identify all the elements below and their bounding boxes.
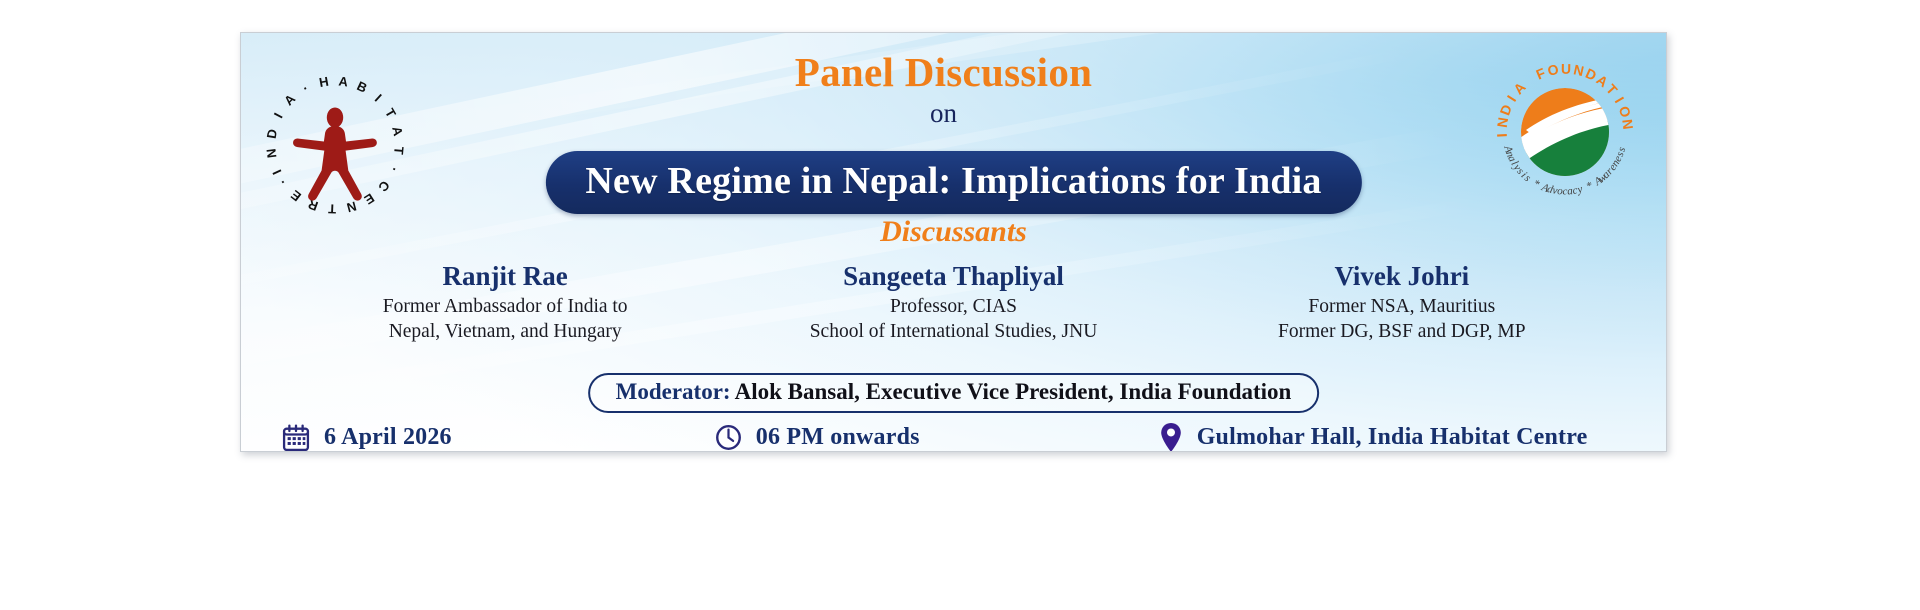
svg-text:C: C xyxy=(375,178,393,195)
svg-text:·: · xyxy=(386,165,402,175)
moderator-name: Alok Bansal, Executive Vice President, I… xyxy=(735,379,1292,404)
discussant-name: Vivek Johri xyxy=(1184,259,1620,294)
svg-text:·: · xyxy=(300,81,311,96)
habitat-human-figure xyxy=(293,108,377,201)
event-date-text: 6 April 2026 xyxy=(324,424,452,451)
event-meta-row: 6 April 2026 06 PM onwards xyxy=(263,421,1644,452)
svg-text:I: I xyxy=(1494,133,1510,138)
event-title-banner: New Regime in Nepal: Implications for In… xyxy=(545,151,1361,214)
svg-text:D: D xyxy=(1496,102,1515,117)
svg-text:N: N xyxy=(1619,118,1636,130)
svg-text:E: E xyxy=(288,187,304,204)
svg-text:A: A xyxy=(389,125,406,138)
moderator-label: Moderator: xyxy=(616,379,731,404)
svg-text:I: I xyxy=(1504,92,1520,104)
discussant-card: Vivek Johri Former NSA, Mauritius Former… xyxy=(1178,259,1626,345)
discussants-list: Ranjit Rae Former Ambassador of India to… xyxy=(281,259,1626,345)
event-venue-text: Gulmohar Hall, India Habitat Centre xyxy=(1197,424,1588,451)
svg-text:T: T xyxy=(391,146,407,155)
discussant-role-line: School of International Studies, JNU xyxy=(735,319,1171,345)
svg-text:U: U xyxy=(1561,61,1571,77)
svg-text:B: B xyxy=(355,78,370,96)
event-time-item: 06 PM onwards xyxy=(714,423,920,452)
kicker-panel-discussion: Panel Discussion xyxy=(411,51,1476,94)
event-poster: INDIA·HABITAT·CENTRE· xyxy=(240,32,1667,452)
event-time-text: 06 PM onwards xyxy=(756,424,920,451)
svg-text:A: A xyxy=(281,91,299,109)
event-date-item: 6 April 2026 xyxy=(281,423,452,453)
svg-text:I: I xyxy=(269,167,284,177)
discussant-name: Ranjit Rae xyxy=(287,259,723,294)
discussants-heading: Discussants xyxy=(241,215,1666,249)
svg-text:N: N xyxy=(1494,116,1511,128)
india-foundation-logo: INDIA FOUNDATION Analysis * Advocacy * A… xyxy=(1486,53,1644,211)
discussant-card: Sangeeta Thapliyal Professor, CIAS Schoo… xyxy=(729,259,1177,345)
discussant-role-line: Nepal, Vietnam, and Hungary xyxy=(287,319,723,345)
svg-text:*: * xyxy=(1531,177,1542,190)
discussant-role-line: Former Ambassador of India to xyxy=(287,294,723,320)
svg-text:I: I xyxy=(1612,94,1628,105)
svg-text:O: O xyxy=(1546,61,1560,79)
svg-text:O: O xyxy=(1616,104,1635,120)
event-venue-item: Gulmohar Hall, India Habitat Centre xyxy=(1158,421,1588,452)
svg-text:·: · xyxy=(275,176,290,188)
poster-headline-block: Panel Discussion on xyxy=(411,51,1476,133)
svg-text:N: N xyxy=(263,148,279,159)
svg-text:A: A xyxy=(1510,79,1529,97)
discussant-role-line: Professor, CIAS xyxy=(735,294,1171,320)
svg-text:I: I xyxy=(271,110,286,120)
location-pin-icon xyxy=(1158,421,1184,452)
discussant-role-line: Former DG, BSF and DGP, MP xyxy=(1184,319,1620,345)
svg-text:T: T xyxy=(382,106,399,120)
event-title: New Regime in Nepal: Implications for In… xyxy=(585,160,1321,202)
moderator-banner: Moderator: Alok Bansal, Executive Vice P… xyxy=(588,373,1320,413)
svg-text:N: N xyxy=(345,198,358,215)
discussant-name: Sangeeta Thapliyal xyxy=(735,259,1171,294)
clock-icon xyxy=(714,423,743,452)
svg-text:I: I xyxy=(372,91,385,105)
discussant-card: Ranjit Rae Former Ambassador of India to… xyxy=(281,259,729,345)
svg-text:H: H xyxy=(318,74,330,90)
svg-text:E: E xyxy=(361,190,377,207)
connector-on: on xyxy=(411,94,1476,133)
svg-text:F: F xyxy=(1534,64,1548,82)
discussant-role-line: Former NSA, Mauritius xyxy=(1184,294,1620,320)
svg-text:A: A xyxy=(338,73,350,89)
calendar-icon xyxy=(281,423,311,453)
india-habitat-centre-logo: INDIA·HABITAT·CENTRE· xyxy=(259,69,411,221)
svg-text:D: D xyxy=(264,128,280,140)
